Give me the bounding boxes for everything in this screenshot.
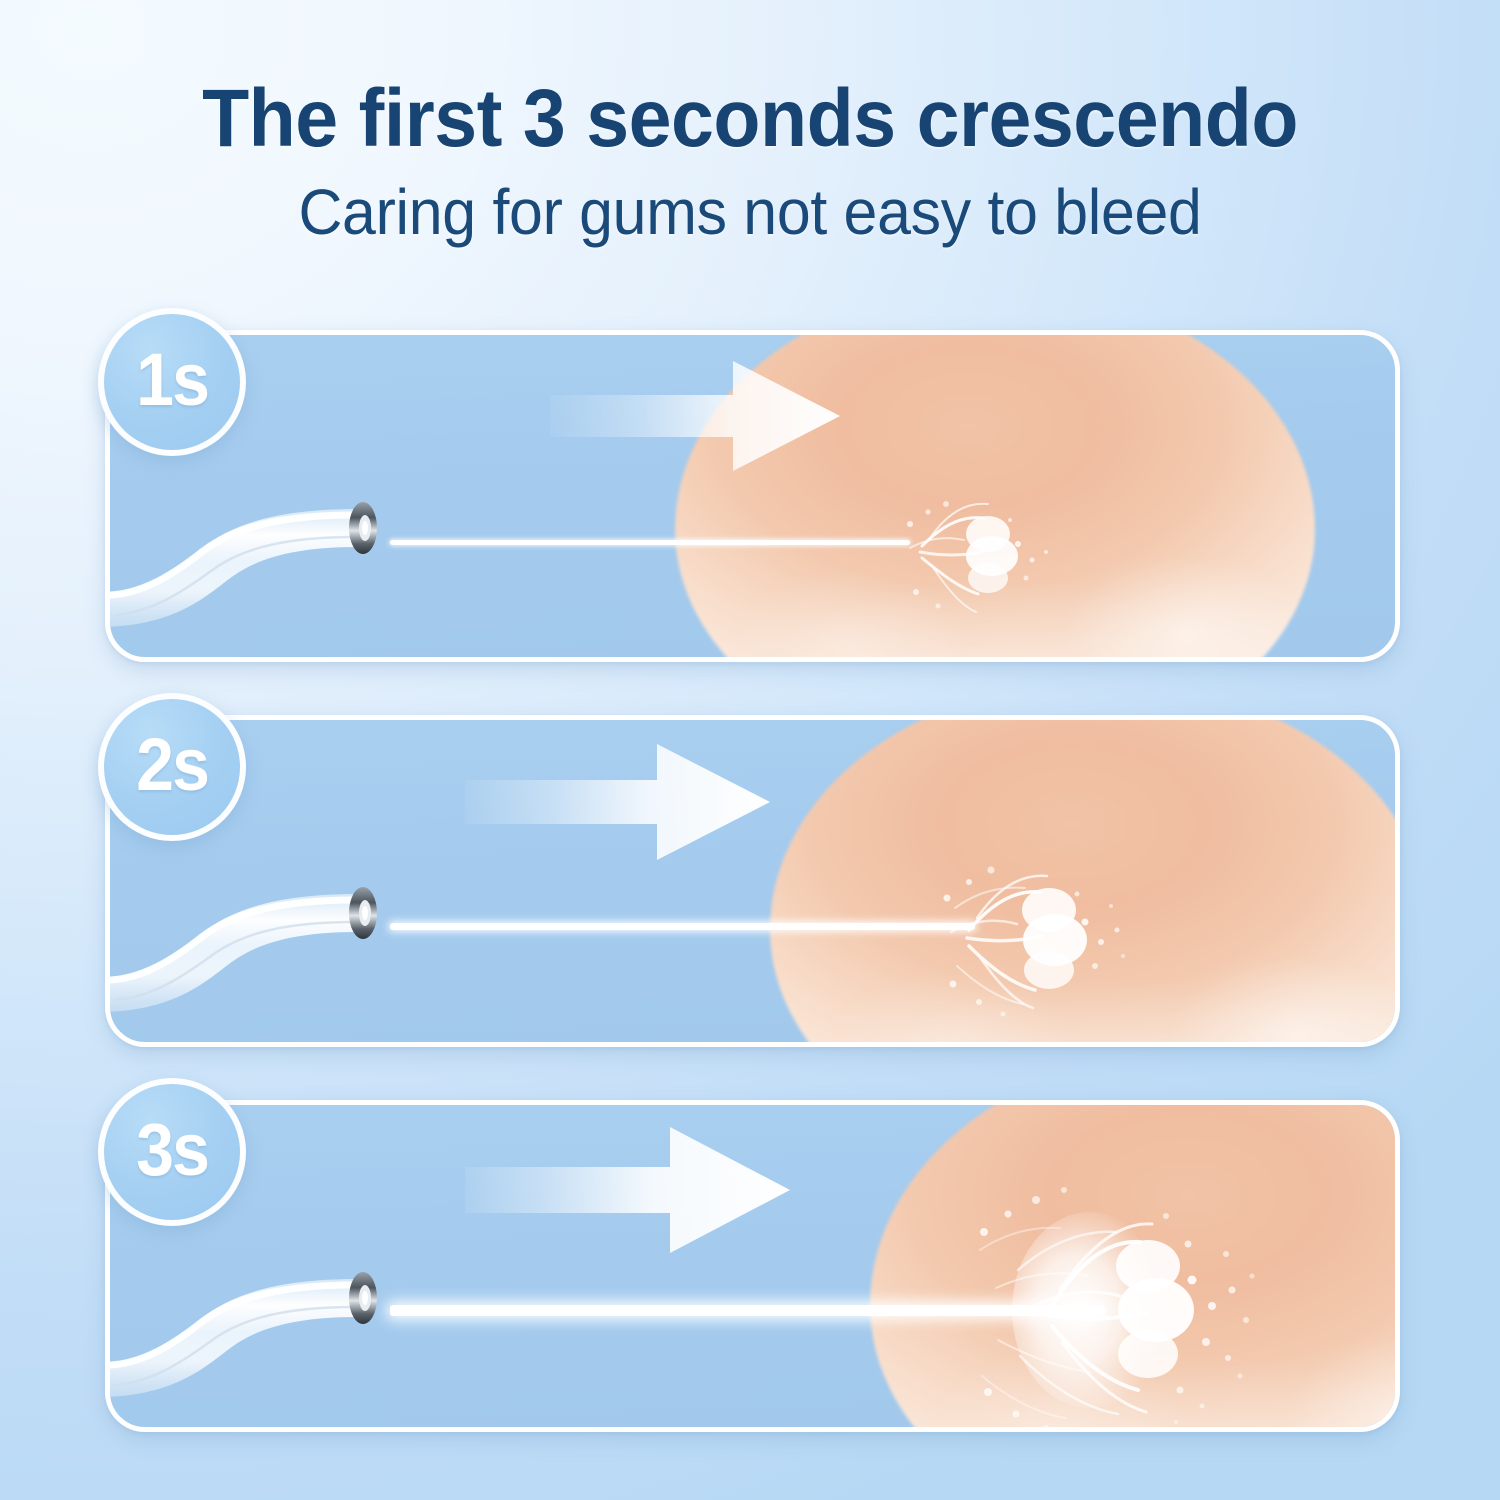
water-jet-stream <box>390 540 910 545</box>
step-badge-1: 1s <box>98 308 246 456</box>
water-flosser-nozzle-icon <box>105 860 415 1030</box>
panel-3-content <box>110 1105 1395 1427</box>
panel-2-content <box>110 720 1395 1042</box>
step-badge-3-label: 3s <box>136 1113 208 1187</box>
step-badge-2-label: 2s <box>136 728 208 802</box>
water-splash-icon <box>885 830 1150 1035</box>
water-flosser-nozzle-icon <box>105 1245 415 1415</box>
step-panel-2 <box>105 715 1400 1047</box>
panel-1-content <box>110 335 1395 657</box>
water-flosser-nozzle-icon <box>105 475 415 645</box>
water-splash-icon <box>850 460 1080 635</box>
step-badge-1-label: 1s <box>136 343 208 417</box>
page-title: The first 3 seconds crescendo <box>45 0 1455 160</box>
right-arrow-icon <box>465 740 770 864</box>
step-panel-1 <box>105 330 1400 662</box>
step-panel-3 <box>105 1100 1400 1432</box>
right-arrow-icon <box>465 1123 790 1257</box>
step-badge-3: 3s <box>98 1078 246 1226</box>
infographic-canvas: The first 3 seconds crescendo Caring for… <box>0 0 1500 1500</box>
step-badge-2: 2s <box>98 693 246 841</box>
water-splash-icon <box>940 1160 1280 1432</box>
page-subtitle: Caring for gums not easy to bleed <box>38 160 1463 244</box>
heading-block: The first 3 seconds crescendo Caring for… <box>0 0 1500 244</box>
right-arrow-icon <box>550 357 840 475</box>
